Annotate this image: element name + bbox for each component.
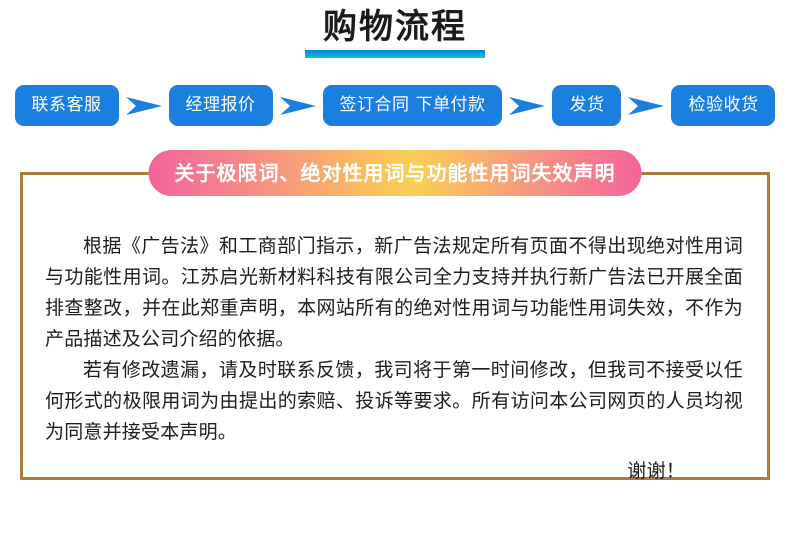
disclaimer-closing: 谢谢！ <box>45 456 743 487</box>
disclaimer-banner-title: 关于极限词、绝对性用词与功能性用词失效声明 <box>149 150 642 196</box>
arrow-right-icon <box>621 93 671 119</box>
flow-step-shipping[interactable]: 发货 <box>552 85 621 126</box>
disclaimer-body: 根据《广告法》和工商部门指示，新广告法规定所有页面不得出现绝对性用词与功能性用词… <box>23 175 767 487</box>
disclaimer-paragraph-2: 若有修改遗漏，请及时联系反馈，我司将于第一时间修改，但我司不接受以任何形式的极限… <box>45 355 743 448</box>
flow-step-sign-contract-pay[interactable]: 签订合同 下单付款 <box>323 85 503 126</box>
flow-step-manager-quote[interactable]: 经理报价 <box>169 85 273 126</box>
title-underline-bar <box>305 50 485 58</box>
page-title: 购物流程 <box>319 6 471 48</box>
page-header: 购物流程 <box>0 0 790 58</box>
flow-step-contact-service[interactable]: 联系客服 <box>15 85 119 126</box>
shopping-flow-steps: 联系客服 经理报价 签订合同 下单付款 发货 检验收货 <box>0 85 790 126</box>
disclaimer-paragraph-1: 根据《广告法》和工商部门指示，新广告法规定所有页面不得出现绝对性用词与功能性用词… <box>45 231 743 355</box>
arrow-right-icon <box>502 93 552 119</box>
arrow-right-icon <box>119 93 169 119</box>
arrow-right-icon <box>273 93 323 119</box>
flow-step-inspect-receive[interactable]: 检验收货 <box>671 85 775 126</box>
disclaimer-box: 关于极限词、绝对性用词与功能性用词失效声明 根据《广告法》和工商部门指示，新广告… <box>20 172 770 480</box>
